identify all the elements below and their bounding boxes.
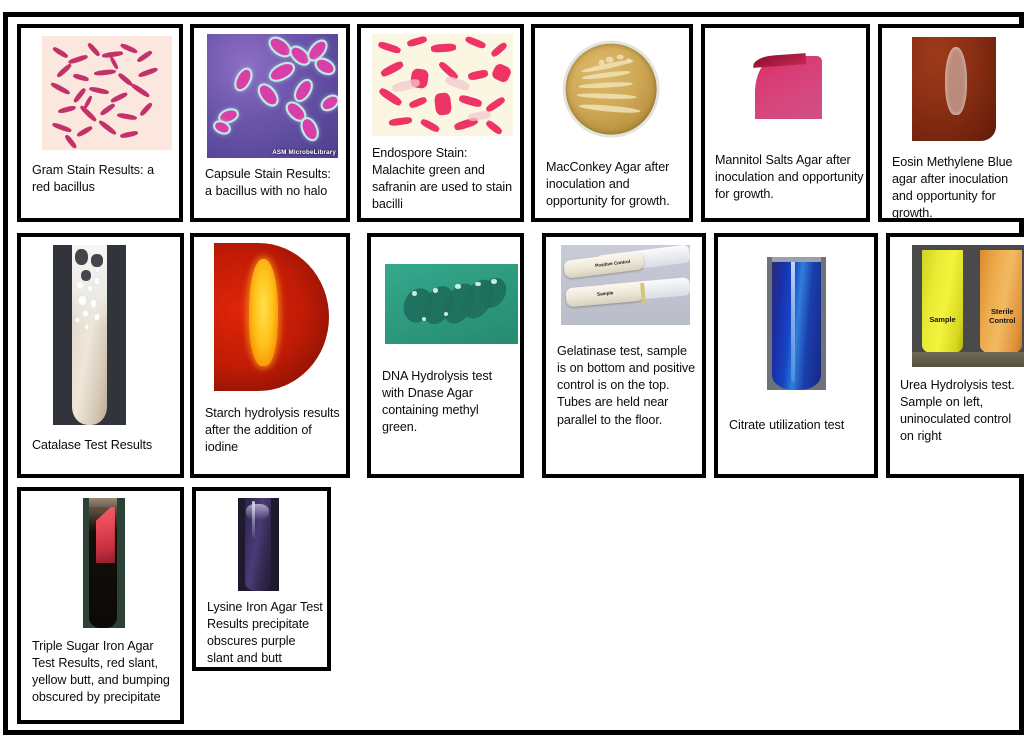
cell-caption: Gelatinase test, sample is on bottom and…	[557, 343, 697, 429]
lia-slant-tube-photo	[238, 498, 279, 591]
tsi-slant-tube-photo	[83, 498, 125, 628]
emb-agar-plate-photo	[908, 34, 1000, 144]
cell-caption: Citrate utilization test	[729, 417, 871, 434]
gelatinase-test-tubes-photo: Positive Control Sample	[561, 245, 690, 325]
mannitol-salt-agar-plate-photo	[740, 37, 835, 132]
cell-caption: Lysine Iron Agar Test Results precipitat…	[207, 599, 325, 668]
image-watermark: ASM MicrobeLibrary	[272, 149, 336, 156]
cell-caption: DNA Hydrolysis test with Dnase Agar cont…	[382, 368, 516, 437]
gram-stain-micrograph	[42, 36, 172, 150]
cell-mannitol-salts-agar[interactable]: Mannitol Salts Agar after inoculation an…	[701, 24, 870, 222]
cell-eosin-methylene-blue-agar[interactable]: Eosin Methylene Blue agar after inoculat…	[878, 24, 1024, 222]
cell-caption: Catalase Test Results	[32, 437, 178, 454]
cell-caption: Mannitol Salts Agar after inoculation an…	[715, 152, 867, 203]
cell-caption: Starch hydrolysis results after the addi…	[205, 405, 341, 456]
cell-macconkey-agar[interactable]: MacConkey Agar after inoculation and opp…	[531, 24, 693, 222]
catalase-test-tube-photo	[53, 245, 126, 425]
cell-urea-hydrolysis[interactable]: Sample Sterile Control Urea Hydrolysis t…	[886, 233, 1024, 478]
starch-hydrolysis-plate-photo	[214, 243, 329, 391]
cell-endospore-stain[interactable]: Endospore Stain: Malachite green and saf…	[357, 24, 524, 222]
cell-citrate-utilization[interactable]: Citrate utilization test	[714, 233, 878, 478]
results-grid: Gram Stain Results: a red bacillus	[0, 0, 1024, 739]
cell-caption: Eosin Methylene Blue agar after inoculat…	[892, 154, 1022, 222]
cell-catalase-test[interactable]: Catalase Test Results	[17, 233, 184, 478]
cell-caption: Triple Sugar Iron Agar Test Results, red…	[32, 638, 176, 707]
cell-capsule-stain[interactable]: ASM MicrobeLibrary Capsule Stain Results…	[190, 24, 350, 222]
cell-starch-hydrolysis[interactable]: Starch hydrolysis results after the addi…	[190, 233, 350, 478]
cell-caption: Gram Stain Results: a red bacillus	[32, 162, 174, 196]
macconkey-agar-plate-photo	[557, 34, 665, 144]
dnase-agar-plate-photo	[385, 264, 518, 344]
cell-caption: Endospore Stain: Malachite green and saf…	[372, 145, 522, 214]
cell-caption: MacConkey Agar after inoculation and opp…	[546, 159, 690, 210]
cell-gelatinase-test[interactable]: Positive Control Sample Gelatinase test,…	[542, 233, 706, 478]
tube-label-sterile-control: Sterile Control	[982, 308, 1023, 325]
cell-caption: Capsule Stain Results: a bacillus with n…	[205, 166, 333, 200]
citrate-test-tube-photo	[767, 257, 826, 390]
cell-lysine-iron-agar[interactable]: Lysine Iron Agar Test Results precipitat…	[192, 487, 331, 671]
cell-caption: Urea Hydrolysis test. Sample on left, un…	[900, 377, 1024, 446]
tube-label-sample: Sample	[923, 316, 962, 324]
endospore-stain-micrograph	[372, 34, 513, 136]
cell-gram-stain[interactable]: Gram Stain Results: a red bacillus	[17, 24, 183, 222]
urea-hydrolysis-tubes-photo: Sample Sterile Control	[912, 245, 1024, 367]
cell-dna-hydrolysis[interactable]: DNA Hydrolysis test with Dnase Agar cont…	[367, 233, 524, 478]
cell-triple-sugar-iron-agar[interactable]: Triple Sugar Iron Agar Test Results, red…	[17, 487, 184, 724]
capsule-stain-micrograph: ASM MicrobeLibrary	[207, 34, 338, 158]
